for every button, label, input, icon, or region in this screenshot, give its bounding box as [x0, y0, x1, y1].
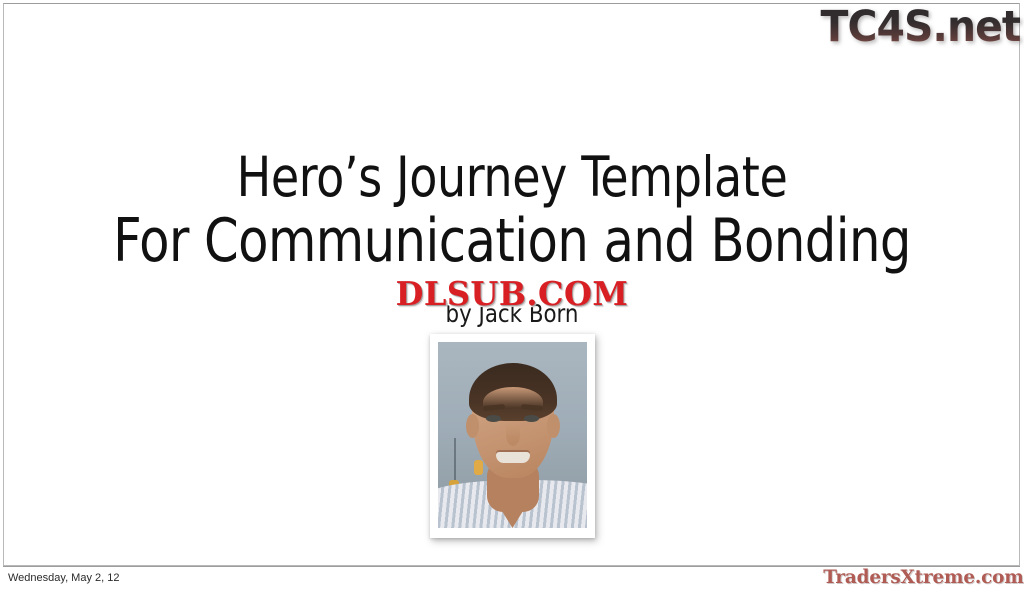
photo-eye-left	[486, 415, 501, 422]
photo-hair	[469, 363, 557, 421]
photo-background-light-2	[474, 460, 483, 475]
photo-eye-right	[524, 415, 539, 422]
photo-nose	[506, 424, 520, 446]
watermark-tradersxtreme-logo: TradersXtreme.com	[824, 566, 1024, 588]
page-title: Hero’s Journey Template For Communicatio…	[0, 146, 1024, 274]
photo-ear-left	[466, 414, 479, 438]
author-photo-frame	[430, 334, 595, 538]
photo-ear-right	[547, 414, 560, 438]
photo-mouth	[496, 452, 530, 463]
subtitle-author: by Jack Born	[26, 299, 999, 328]
footer-date: Wednesday, May 2, 12	[8, 572, 120, 584]
author-photo	[438, 342, 587, 528]
title-line-2: For Communication and Bonding	[41, 208, 983, 274]
watermark-tc4s-logo: TC4S.net	[820, 2, 1020, 52]
slide-canvas: Hero’s Journey Template For Communicatio…	[0, 0, 1024, 592]
title-line-1: Hero’s Journey Template	[36, 146, 988, 208]
